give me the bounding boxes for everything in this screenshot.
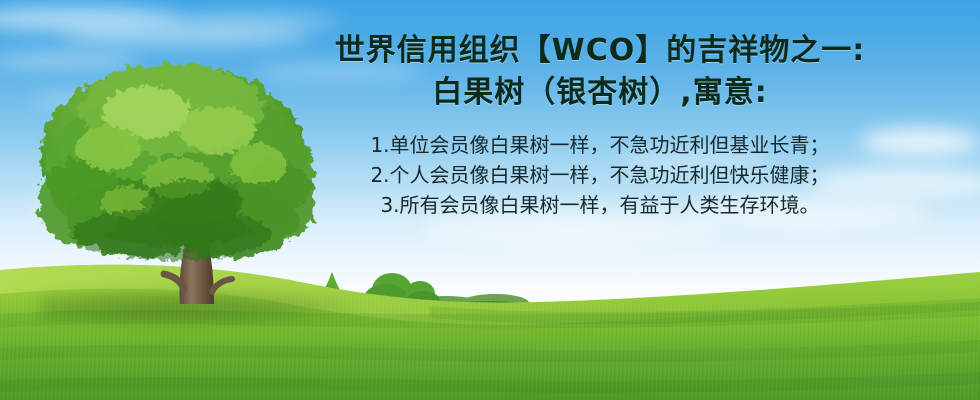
meaning-item-3: 3.所有会员像白果树一样，有益于人类生存环境。 [250, 190, 950, 220]
cloud-icon [160, 12, 340, 30]
headline-line-1: 世界信用组织【WCO】的吉祥物之一: [250, 30, 950, 72]
grass-field [0, 244, 980, 400]
meaning-item-2: 2.个人会员像白果树一样，不急功近利但快乐健康； [250, 160, 950, 190]
cloud-icon [30, 92, 150, 106]
banner-text-block: 世界信用组织【WCO】的吉祥物之一: 白果树（银杏树）,寓意: 1.单位会员像白… [250, 30, 950, 220]
cloud-icon [0, 52, 140, 68]
meaning-item-1: 1.单位会员像白果树一样，不急功近利但基业长青； [250, 130, 950, 160]
cloud-icon [0, 6, 180, 32]
meaning-list: 1.单位会员像白果树一样，不急功近利但基业长青； 2.个人会员像白果树一样，不急… [250, 130, 950, 220]
cloud-icon [30, 196, 230, 222]
wco-mascot-banner: 世界信用组织【WCO】的吉祥物之一: 白果树（银杏树）,寓意: 1.单位会员像白… [0, 0, 980, 400]
headline-line-2: 白果树（银杏树）,寓意: [250, 72, 950, 114]
